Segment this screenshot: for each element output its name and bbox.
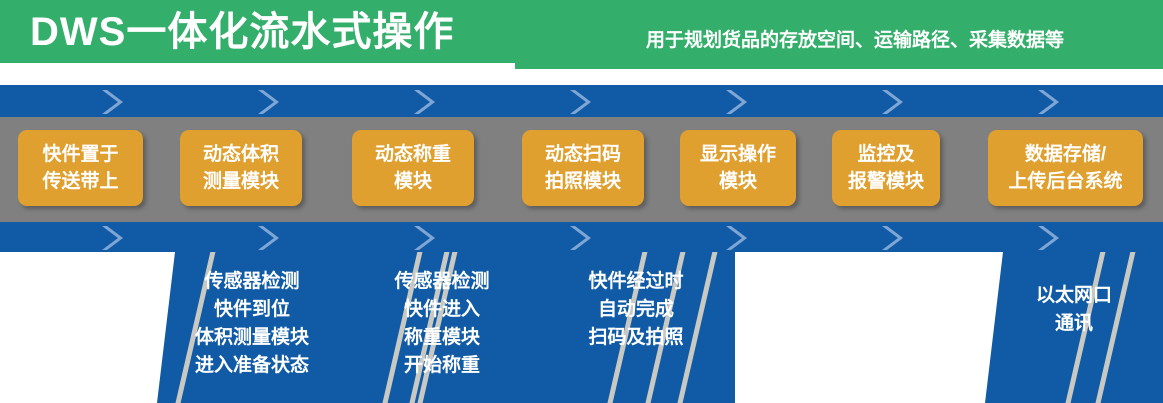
module-box-label: 显示操作 模块 [700,141,776,195]
module-box-label: 动态体积 测量模块 [203,141,279,195]
detail-panel-row: 传感器检测 快件到位 体积测量模块 进入准备状态传感器检测 快件进入 称重模块 … [0,252,1163,403]
weight-detail-text: 传感器检测 快件进入 称重模块 开始称重 [347,268,537,380]
flow-arrow-bar-middle [0,222,1163,252]
chevron-right-icon [254,87,280,117]
module-box-weight[interactable]: 动态称重 模块 [352,130,474,206]
module-box-label: 动态扫码 拍照模块 [545,141,621,195]
chevron-right-icon [410,223,436,253]
module-box-label: 数据存储/ 上传后台系统 [1008,141,1122,195]
chevron-right-icon [566,223,592,253]
page-subtitle: 用于规划货品的存放空间、运输路径、采集数据等 [560,28,1150,54]
module-box-scan[interactable]: 动态扫码 拍照模块 [522,130,644,206]
module-box-conveyor[interactable]: 快件置于 传送带上 [18,130,143,206]
chevron-right-icon [722,223,748,253]
chevron-right-icon [1034,87,1060,117]
chevron-right-icon [254,223,280,253]
chevron-right-icon [1034,223,1060,253]
page-title: DWS一体化流水式操作 [30,6,500,58]
scan-detail-text: 快件经过时 自动完成 扫码及拍照 [537,268,735,352]
detail-panel-group-1: 以太网口 通讯 [985,252,1163,403]
chevron-right-icon [878,87,904,117]
detail-panel-group-0: 传感器检测 快件到位 体积测量模块 进入准备状态传感器检测 快件进入 称重模块 … [157,252,735,403]
module-box-monitor[interactable]: 监控及 报警模块 [832,130,940,206]
module-box-volume[interactable]: 动态体积 测量模块 [180,130,302,206]
chevron-right-icon [98,87,124,117]
chevron-right-icon [566,87,592,117]
chevron-right-icon [722,87,748,117]
module-box-label: 动态称重 模块 [375,141,451,195]
module-box-storage[interactable]: 数据存储/ 上传后台系统 [988,130,1143,206]
flow-arrow-bar-top [0,85,1163,117]
dws-flow-infographic: DWS一体化流水式操作 用于规划货品的存放空间、运输路径、采集数据等 快件置于 … [0,0,1163,403]
chevron-right-icon [878,223,904,253]
module-box-label: 监控及 报警模块 [848,141,924,195]
chevron-right-icon [410,87,436,117]
module-box-display[interactable]: 显示操作 模块 [680,130,796,206]
storage-detail-text: 以太网口 通讯 [985,282,1163,338]
volume-detail-text: 传感器检测 快件到位 体积测量模块 进入准备状态 [157,268,347,380]
module-box-label: 快件置于 传送带上 [42,141,118,195]
chevron-right-icon [98,223,124,253]
